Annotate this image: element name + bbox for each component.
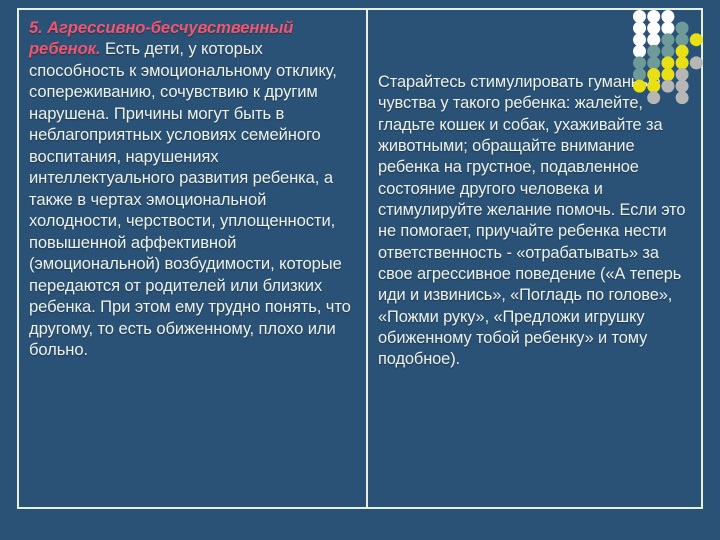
recommendation-body: Старайтесь стимулировать гуманные чувств… xyxy=(378,72,691,371)
problem-description: 5. Агрессивно-бесчувственный ребенок. Ес… xyxy=(29,17,356,361)
table-cell-problem: 5. Агрессивно-бесчувственный ребенок. Ес… xyxy=(18,9,367,508)
table-cell-recommendation: Старайтесь стимулировать гуманные чувств… xyxy=(367,9,702,508)
problem-body: Есть дети, у которых способность к эмоци… xyxy=(29,39,351,359)
table-row: 5. Агрессивно-бесчувственный ребенок. Ес… xyxy=(18,9,702,508)
recommendation-wrapper: Старайтесь стимулировать гуманные чувств… xyxy=(378,17,691,371)
slide-canvas: 5. Агрессивно-бесчувственный ребенок. Ес… xyxy=(0,0,720,540)
content-table: 5. Агрессивно-бесчувственный ребенок. Ес… xyxy=(17,8,703,509)
